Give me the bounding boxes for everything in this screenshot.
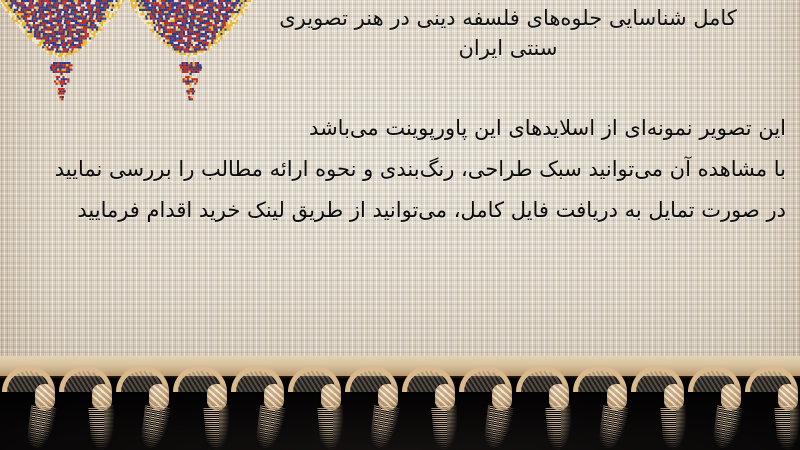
- body-line-3: در صورت تمایل به دریافت فایل کامل، می‌تو…: [14, 190, 786, 231]
- tassel-threads: [203, 405, 233, 450]
- tassel-threads: [660, 405, 690, 450]
- carpet-tassel: [173, 366, 226, 450]
- slide-title: کامل شناسایی جلوه‌های فلسفه دینی در هنر …: [232, 4, 784, 64]
- tassel-threads: [597, 404, 628, 450]
- carpet-tassel: [116, 366, 169, 450]
- tassel-threads: [317, 405, 347, 450]
- slide-title-line-1: کامل شناسایی جلوه‌های فلسفه دینی در هنر …: [232, 4, 784, 34]
- carpet-tassel-fringe: [0, 352, 800, 450]
- carpet-tassel: [459, 366, 512, 450]
- carpet-tassel: [573, 366, 626, 450]
- carpet-tassel: [345, 366, 398, 450]
- tassel-threads: [774, 405, 800, 450]
- carpet-tassel: [516, 366, 569, 450]
- persian-carpet-medallion-ornament-left-icon: [0, 0, 130, 112]
- tassel-threads: [483, 404, 514, 450]
- body-line-1: این تصویر نمونه‌ای از اسلایدهای این پاور…: [14, 108, 786, 149]
- tassel-threads: [712, 404, 743, 450]
- carpet-tassel: [59, 366, 112, 450]
- tassel-threads: [254, 404, 285, 450]
- slide-canvas: کامل شناسایی جلوه‌های فلسفه دینی در هنر …: [0, 0, 800, 450]
- slide-body-text: این تصویر نمونه‌ای از اسلایدهای این پاور…: [14, 108, 786, 231]
- slide-title-line-2: سنتی ایران: [232, 34, 784, 64]
- tassel-threads: [88, 405, 118, 450]
- tassel-threads: [369, 404, 400, 450]
- tassel-threads: [26, 404, 57, 450]
- carpet-tassel: [631, 366, 684, 450]
- body-line-2: با مشاهده آن می‌توانید سبک طراحی، رنگ‌بن…: [14, 149, 786, 190]
- carpet-tassel: [688, 366, 741, 450]
- tassel-threads: [431, 405, 461, 450]
- carpet-tassel: [2, 366, 55, 450]
- carpet-tassel: [745, 366, 798, 450]
- tassel-threads: [140, 404, 171, 450]
- carpet-tassel: [402, 366, 455, 450]
- carpet-tassel: [231, 366, 284, 450]
- tassel-threads: [545, 405, 575, 450]
- carpet-tassel: [288, 366, 341, 450]
